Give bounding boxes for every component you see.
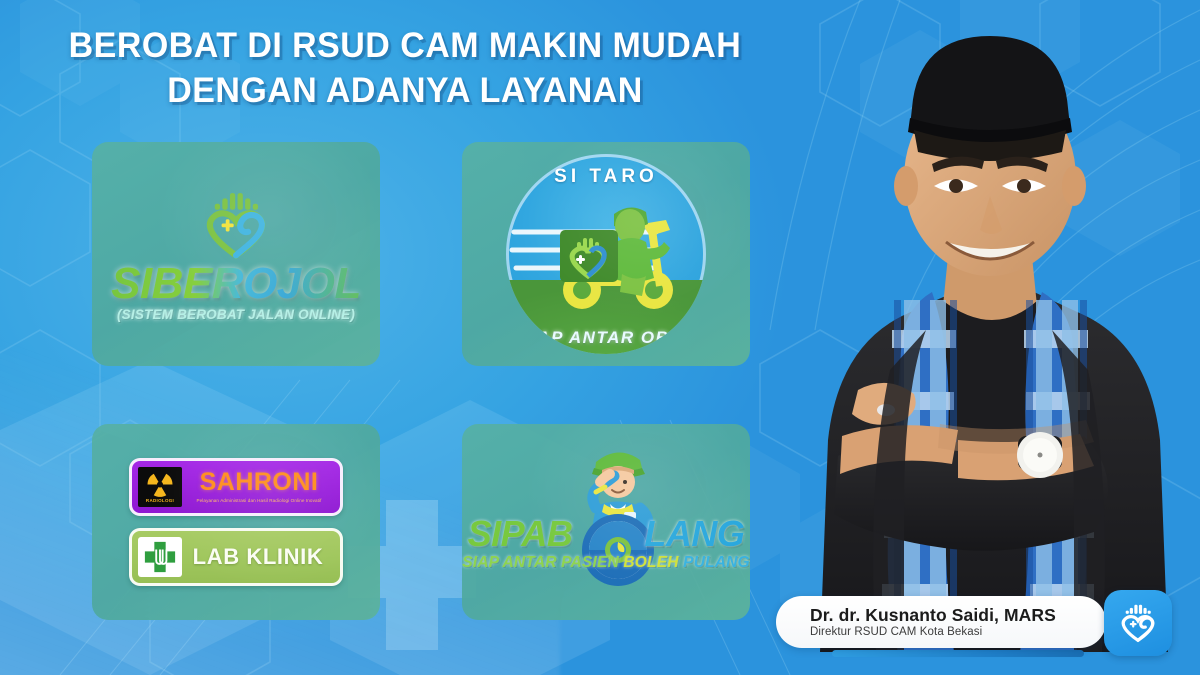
service-card-sitaro[interactable]: SI TARO SIAP ANTAR OBAT [462,142,750,366]
sitaro-bottom-text: SIAP ANTAR OBAT [506,328,706,348]
sipabolang-part2: LANG [644,513,744,554]
director-portrait [780,0,1200,652]
lab-klinik-banner[interactable]: LAB KLINIK [129,528,343,586]
service-card-lab[interactable]: RADIOLOGI SAHRONI Pelayanan Administrasi… [92,424,380,620]
sitaro-top-text: SI TARO [506,166,706,188]
lab-cross-testtube-icon [138,537,182,577]
director-name: Dr. dr. Kusnanto Saidi, MARS [810,606,1106,626]
sipabolang-sub-part1: SIAP ANTAR PASIEN [462,554,623,571]
sipabolang-subtitle: SIAP ANTAR PASIEN BOLEH PULANG [462,554,750,572]
siberojol-wordmark: SIBEROJOL [111,262,361,306]
sahroni-name: SAHRONI [182,470,336,495]
sahroni-banner[interactable]: RADIOLOGI SAHRONI Pelayanan Administrasi… [129,458,343,516]
radiology-hazard-icon: RADIOLOGI [138,467,182,507]
poster-canvas: BEROBAT DI RSUD CAM MAKIN MUDAH DENGAN A… [0,0,1200,675]
sipabolang-wordmark: SIPABLANG [462,516,750,552]
sahroni-subtitle: Pelayanan Administrasi dan Hasil Radiolo… [182,498,336,505]
white-wristwatch [1017,432,1063,478]
page-title: BEROBAT DI RSUD CAM MAKIN MUDAH DENGAN A… [0,24,810,114]
director-role: Direktur RSUD CAM Kota Bekasi [810,626,1106,638]
service-card-sipabolang[interactable]: SIPABLANG SIAP ANTAR PASIEN BOLEH PULANG [462,424,750,620]
rsud-cam-heart-logo-icon[interactable] [1104,590,1172,656]
nameplate: Dr. dr. Kusnanto Saidi, MARS Direktur RS… [776,596,1106,648]
lab-klinik-label: LAB KLINIK [182,544,340,570]
nameplate-underline-bar [832,650,1084,657]
radiology-icon-label: RADIOLOGI [146,498,174,503]
title-line-1: BEROBAT DI RSUD CAM MAKIN MUDAH [12,24,798,69]
title-line-2: DENGAN ADANYA LAYANAN [12,69,798,114]
sipabolang-sub-part3: PULANG [683,554,750,571]
sipabolang-part1: SIPAB [468,513,573,554]
scooter-delivery-icon [542,190,692,325]
siberojol-subtitle: (SISTEM BEROBAT JALAN ONLINE) [92,307,380,322]
sitaro-badge: SI TARO SIAP ANTAR OBAT [506,154,706,354]
service-card-siberojol[interactable]: SIBEROJOL (SISTEM BEROBAT JALAN ONLINE) [92,142,380,366]
sipabolang-sub-part2: BOLEH [623,554,683,571]
hospital-heart-logo-icon [198,190,274,260]
black-peci-cap [910,36,1070,137]
